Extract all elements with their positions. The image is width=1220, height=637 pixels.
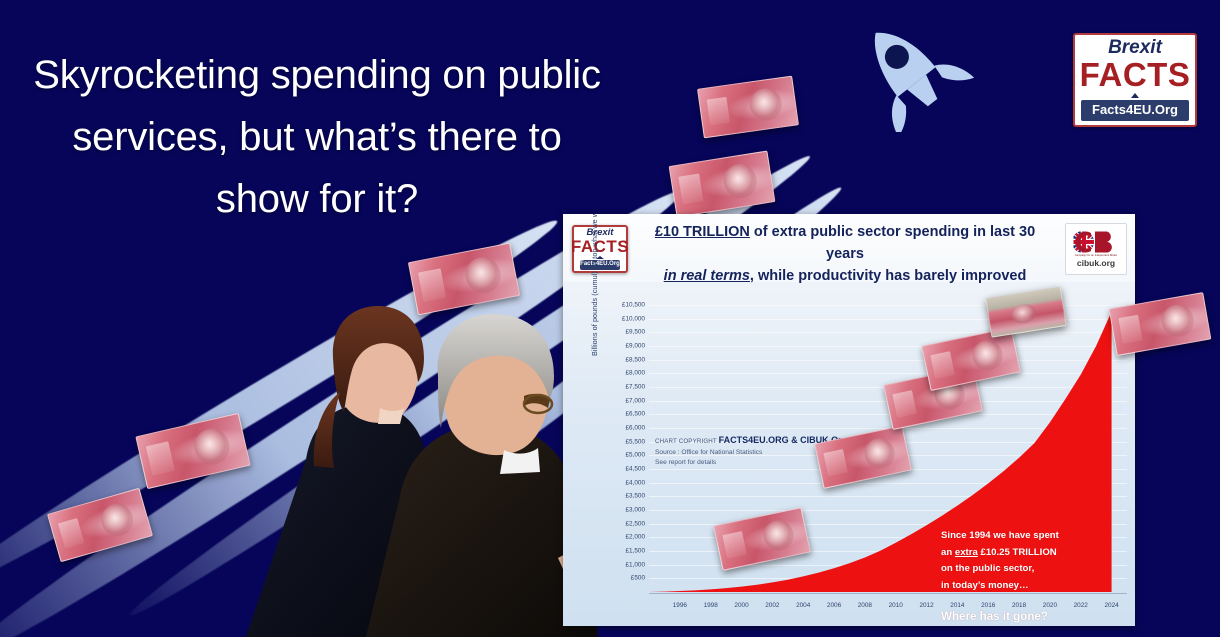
y-tick-label: £2,500 xyxy=(601,520,645,527)
x-tick-label: 1996 xyxy=(673,602,687,609)
y-tick-label: £6,500 xyxy=(601,411,645,418)
chart-panel: Brexit FACTS Facts4EU.Org £10 TRILLION o… xyxy=(563,214,1135,626)
logo-facts-text: FACTS xyxy=(1080,58,1191,91)
callout-line2-post: £10.25 TRILLION xyxy=(978,547,1057,558)
chart-header: Brexit FACTS Facts4EU.Org £10 TRILLION o… xyxy=(563,214,1135,282)
y-tick-label: £9,500 xyxy=(601,329,645,336)
x-tick-label: 2008 xyxy=(858,602,872,609)
callout-question: Where has it gone? xyxy=(941,607,1059,626)
callout-line-4: in today’s money… xyxy=(941,578,1059,595)
cib-strapline: Campaign for an Independent Britain xyxy=(1075,255,1117,258)
page-title: Skyrocketing spending on public services… xyxy=(22,44,612,230)
y-tick-label: £10,500 xyxy=(601,301,645,308)
logo-url-text: Facts4EU.Org xyxy=(1081,100,1189,120)
x-tick-label: 2000 xyxy=(734,602,748,609)
y-tick-label: £4,500 xyxy=(601,465,645,472)
x-tick-label: 2012 xyxy=(919,602,933,609)
y-tick-label: £500 xyxy=(601,575,645,582)
x-tick-label: 2010 xyxy=(889,602,903,609)
y-tick-label: £7,500 xyxy=(601,383,645,390)
callout-line2-pre: an xyxy=(941,547,955,558)
y-tick-label: £3,500 xyxy=(601,493,645,500)
y-tick-label: £5,500 xyxy=(601,438,645,445)
callout-line-3: on the public sector, xyxy=(941,561,1059,578)
cib-union-jack-icon xyxy=(1071,230,1121,254)
logo-triangle-icon xyxy=(1131,93,1139,98)
y-tick-label: £6,000 xyxy=(601,424,645,431)
y-tick-label: £2,000 xyxy=(601,534,645,541)
callout-line-1: Since 1994 we have spent xyxy=(941,528,1059,545)
y-tick-label: £5,000 xyxy=(601,452,645,459)
chart-title: £10 TRILLION of extra public sector spen… xyxy=(635,222,1055,287)
x-tick-label: 2006 xyxy=(827,602,841,609)
callout-line2-underline: extra xyxy=(955,547,978,558)
rocket-icon xyxy=(845,12,975,132)
y-tick-label: £8,500 xyxy=(601,356,645,363)
chart-title-emphasis: £10 TRILLION xyxy=(655,224,750,240)
y-tick-label: £7,000 xyxy=(601,397,645,404)
x-tick-label: 2002 xyxy=(765,602,779,609)
x-tick-label: 2004 xyxy=(796,602,810,609)
chart-title-rest: of extra public sector spending in last … xyxy=(750,224,1035,262)
y-tick-label: £10,000 xyxy=(601,315,645,322)
chart-callout: Since 1994 we have spent an extra £10.25… xyxy=(941,528,1059,626)
y-tick-label: £8,000 xyxy=(601,370,645,377)
cib-url: cibuk.org xyxy=(1077,258,1115,268)
brexit-facts-logo[interactable]: Brexit FACTS Facts4EU.Org xyxy=(1073,33,1197,127)
x-tick-label: 2022 xyxy=(1074,602,1088,609)
x-tick-label: 1998 xyxy=(704,602,718,609)
cibuk-logo[interactable]: Campaign for an Independent Britain cibu… xyxy=(1065,223,1127,275)
callout-line-2: an extra £10.25 TRILLION xyxy=(941,545,1059,562)
y-tick-label: £1,000 xyxy=(601,561,645,568)
y-tick-label: £9,000 xyxy=(601,342,645,349)
y-tick-label: £1,500 xyxy=(601,547,645,554)
x-tick-label: 2024 xyxy=(1104,602,1118,609)
logo-brexit-text: Brexit xyxy=(1108,38,1162,57)
y-tick-label: £4,000 xyxy=(601,479,645,486)
y-tick-label: £3,000 xyxy=(601,506,645,513)
copyright-prefix: CHART COPYRIGHT xyxy=(655,438,719,445)
poster-canvas: Skyrocketing spending on public services… xyxy=(0,0,1220,637)
